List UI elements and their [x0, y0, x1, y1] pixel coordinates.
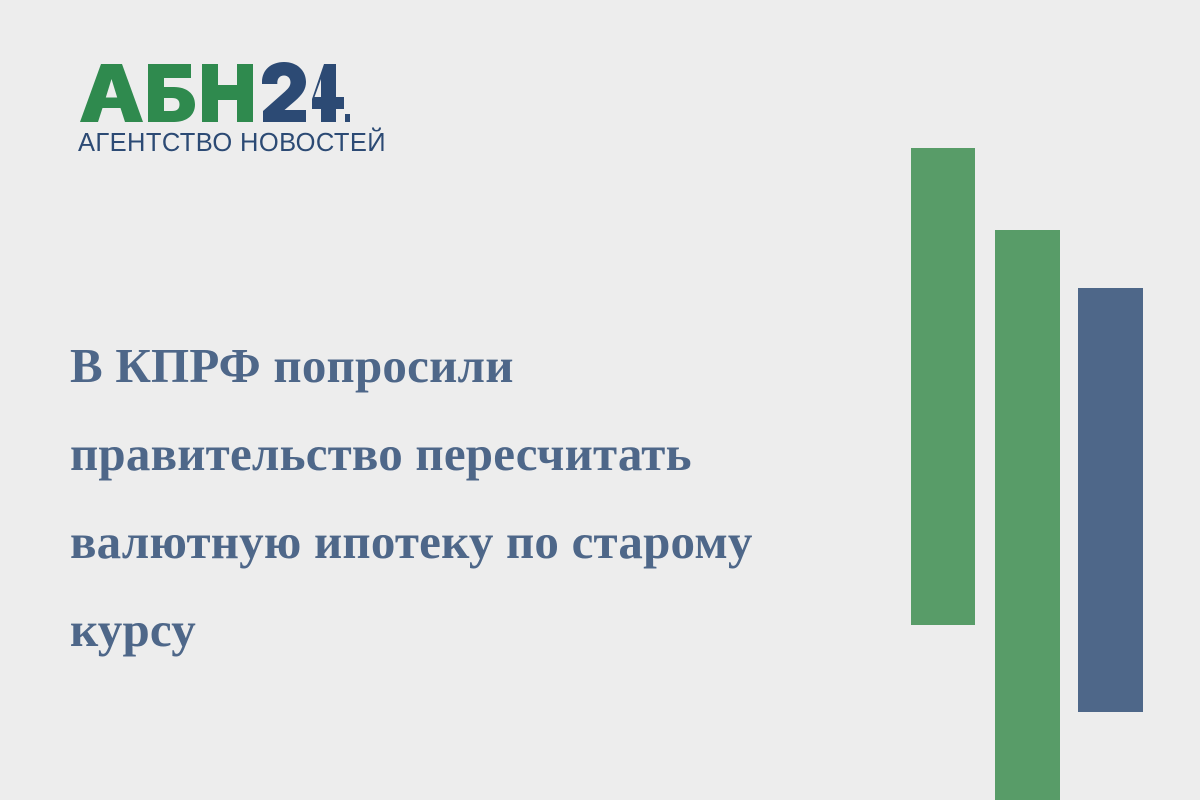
abn24-logo-mark: [78, 62, 350, 124]
abn24-logo[interactable]: АГЕНТСТВО НОВОСТЕЙ: [78, 62, 378, 157]
headline-line-3: валютную ипотеку по старому: [70, 498, 880, 586]
headline: В КПРФ попросили правительство пересчита…: [70, 322, 880, 674]
decorative-bar-3: [1078, 288, 1143, 712]
news-card: АГЕНТСТВО НОВОСТЕЙ В КПРФ попросили прав…: [0, 0, 1200, 800]
headline-line-4: курсу: [70, 586, 880, 674]
headline-line-2: правительство пересчитать: [70, 410, 880, 498]
logo-tagline: АГЕНТСТВО НОВОСТЕЙ: [78, 131, 378, 157]
decorative-bar-1: [911, 148, 975, 625]
decorative-bar-2: [995, 230, 1060, 800]
headline-line-1: В КПРФ попросили: [70, 322, 880, 410]
